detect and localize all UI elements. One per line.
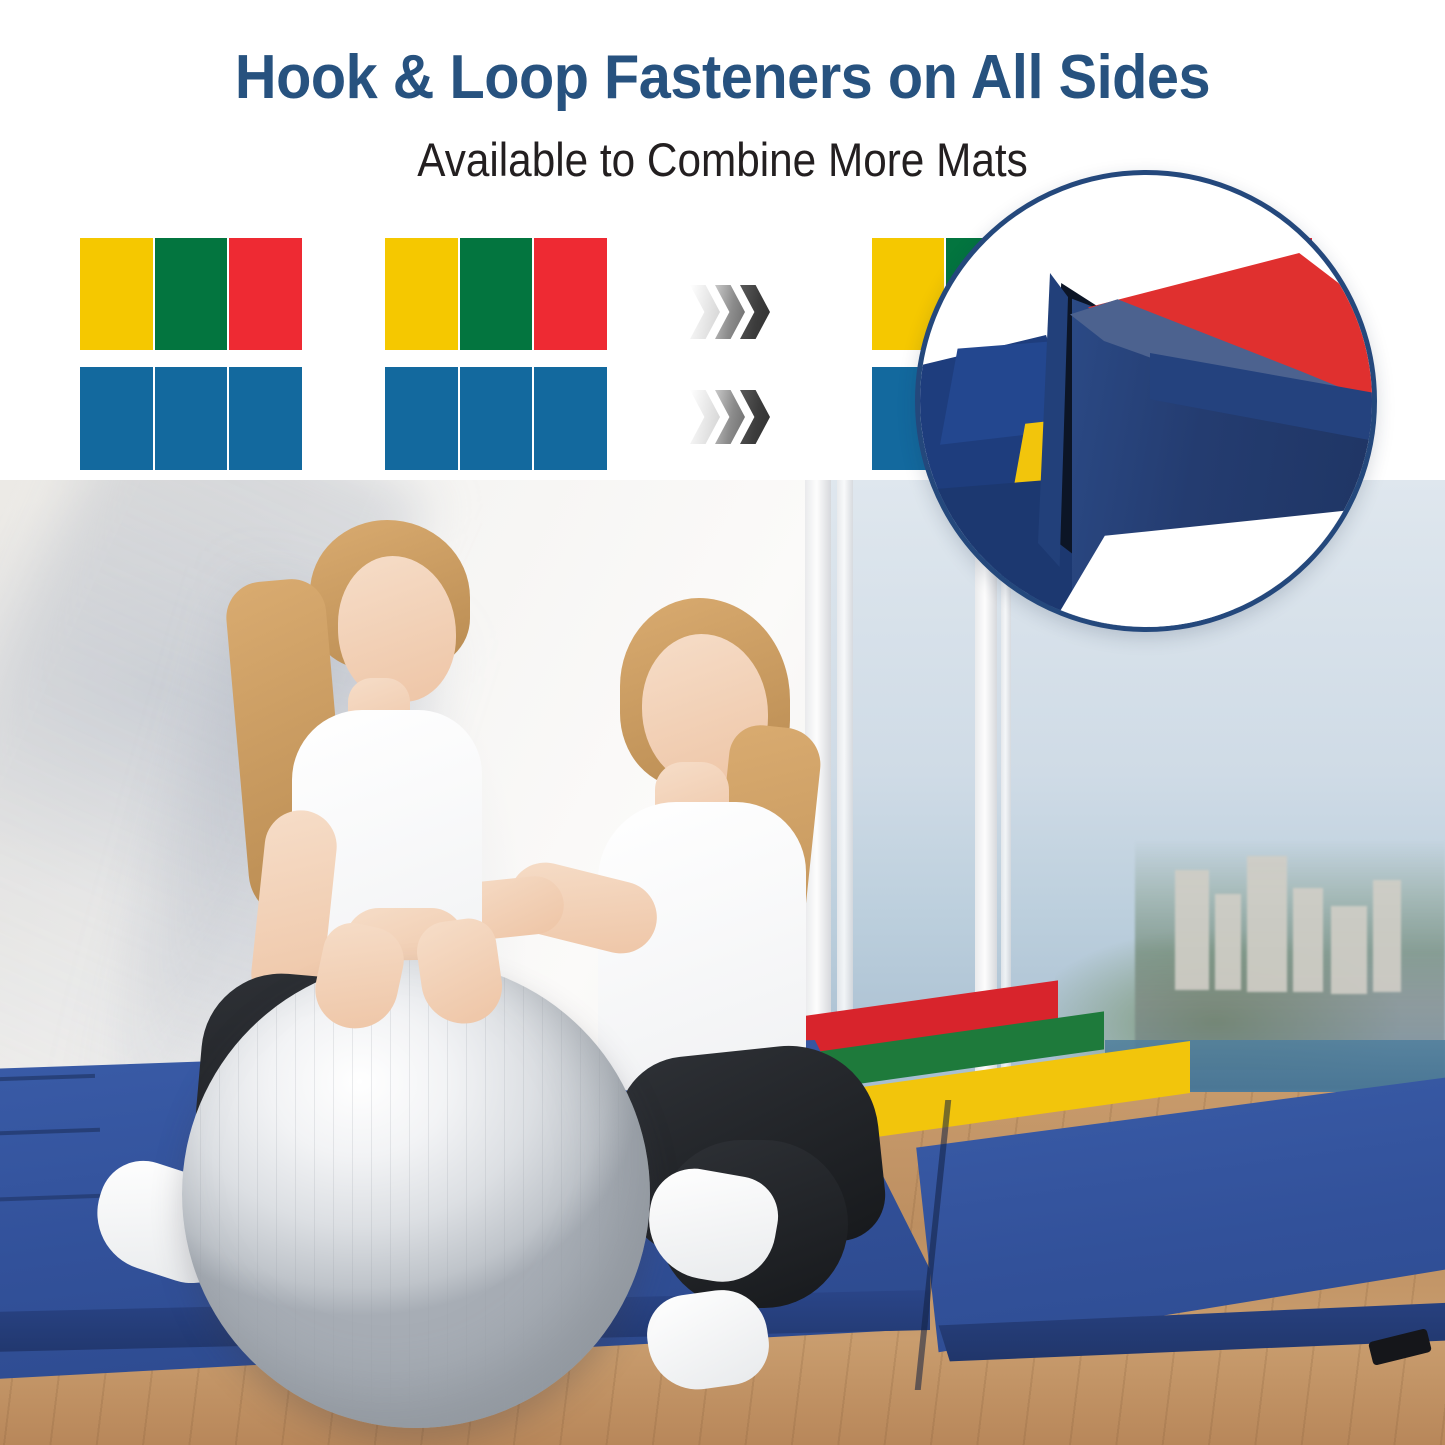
mat-panel-red [229, 238, 302, 350]
mat-row-bottom [385, 367, 607, 470]
mat-panel-red [534, 238, 607, 350]
mat-panel-blue [80, 367, 155, 470]
mat-group-left [80, 230, 302, 470]
exercise-ball [182, 960, 650, 1428]
header-banner: Hook & Loop Fasteners on All Sides Avail… [0, 0, 1445, 210]
chevron-right-icon [690, 285, 720, 339]
chevron-right-icon [690, 390, 720, 444]
mat-panel-green [155, 238, 230, 350]
arrow-bottom [690, 390, 765, 444]
mat-corner-closeup [915, 170, 1377, 632]
page-title: Hook & Loop Fasteners on All Sides [51, 42, 1395, 113]
mat-panel-green [460, 238, 535, 350]
mat-panel-blue [460, 367, 535, 470]
mat-row-top [80, 238, 302, 350]
mat-panel-yellow [385, 238, 460, 350]
blue-mat-right [905, 1075, 1445, 1405]
mat-row-bottom [80, 367, 302, 470]
mat-row-top [385, 238, 607, 350]
mat-panel-blue [385, 367, 460, 470]
ball-seam-lines [182, 960, 650, 1428]
mat-group-middle [385, 230, 607, 470]
mat-panel-blue [534, 367, 607, 470]
mat-panel-yellow [80, 238, 155, 350]
mat-panel-blue [155, 367, 230, 470]
arrow-top [690, 285, 765, 339]
mat-panel-blue [229, 367, 302, 470]
